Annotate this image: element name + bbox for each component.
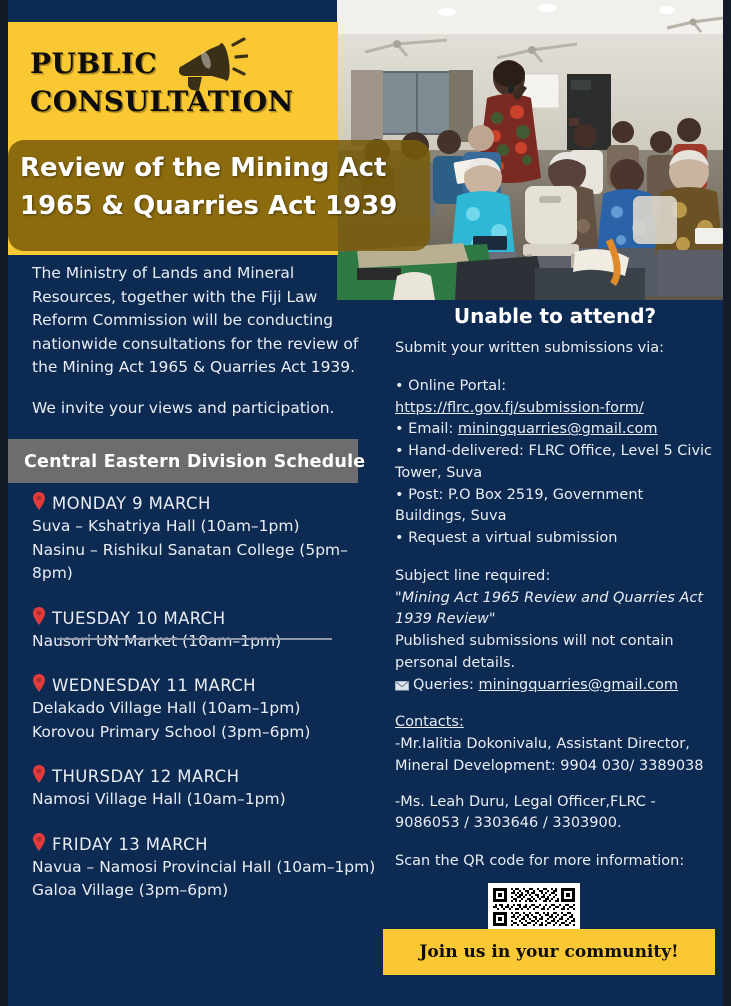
schedule-entry: MONDAY 9 MARCH Suva – Kshatriya Hall (10… — [32, 492, 382, 586]
schedule-day: FRIDAY 13 MARCH — [32, 833, 382, 854]
bullet-post: • Post: P.O Box 2519, Government Buildin… — [395, 485, 715, 529]
review-title: Review of the Mining Act 1965 & Quarries… — [20, 150, 440, 225]
schedule-venue: Nasinu – Rishikul Sanatan College (5pm–8… — [32, 539, 382, 586]
contacts-block: Contacts: -Mr.Ialitia Dokonivalu, Assist… — [395, 712, 715, 835]
join-cta-label[interactable]: Join us in your community! — [383, 929, 715, 975]
schedule-venue: Galoa Village (3pm–6pm) — [32, 879, 382, 903]
bullet-hand-delivered: • Hand-delivered: FLRC Office, Level 5 C… — [395, 441, 715, 485]
bullet-online-portal-link[interactable]: https://flrc.gov.fj/submission-form/ — [395, 398, 715, 420]
subject-line-quote: "Mining Act 1965 Review and Quarries Act… — [395, 588, 715, 632]
envelope-icon — [395, 681, 409, 691]
review-line-2: 1965 & Quarries Act 1939 — [20, 188, 440, 226]
queries-line: Queries: miningquarries@gmail.com — [395, 675, 715, 697]
schedule-entry: TUESDAY 10 MARCH Nausori UN Market (10am… — [32, 607, 382, 654]
schedule-venue: Namosi Village Hall (10am–1pm) — [32, 788, 382, 812]
submissions-lead: Submit your written submissions via: — [395, 338, 715, 360]
map-pin-icon — [32, 607, 46, 625]
contact-person-2: -Ms. Leah Duru, Legal Officer,FLRC - 908… — [395, 792, 715, 836]
map-pin-icon — [32, 833, 46, 851]
bullet-virtual-submission: • Request a virtual submission — [395, 528, 715, 550]
section-divider — [57, 638, 332, 640]
schedule-venue: Suva – Kshatriya Hall (10am–1pm) — [32, 515, 382, 539]
poster-left-edge — [0, 0, 8, 1006]
contacts-heading: Contacts: — [395, 712, 715, 734]
poster-canvas: PUBLIC CONSULTATION Review of the Mining… — [0, 0, 731, 1006]
schedule-day-label: MONDAY 9 MARCH — [52, 494, 211, 513]
scan-qr-text: Scan the QR code for more information: — [395, 851, 715, 873]
schedule-venue: Nausori UN Market (10am–1pm) — [32, 630, 382, 654]
schedule-day: THURSDAY 12 MARCH — [32, 765, 382, 786]
bullet-email-label: • Email: — [395, 421, 458, 437]
bullet-email: • Email: miningquarries@gmail.com — [395, 419, 715, 441]
schedule-day-label: TUESDAY 10 MARCH — [52, 609, 226, 628]
schedule-entry: WEDNESDAY 11 MARCH Delakado Village Hall… — [32, 674, 382, 744]
schedule-list: MONDAY 9 MARCH Suva – Kshatriya Hall (10… — [32, 492, 382, 924]
schedule-day-label: FRIDAY 13 MARCH — [52, 835, 208, 854]
schedule-day-label: THURSDAY 12 MARCH — [52, 767, 239, 786]
left-column: The Ministry of Lands and Mineral Resour… — [8, 262, 380, 437]
map-pin-icon — [32, 765, 46, 783]
contact-person-1: -Mr.Ialitia Dokonivalu, Assistant Direct… — [395, 734, 715, 778]
privacy-note: Published submissions will not contain p… — [395, 631, 715, 675]
review-line-1: Review of the Mining Act — [20, 150, 440, 188]
schedule-day: TUESDAY 10 MARCH — [32, 607, 382, 628]
schedule-venue: Navua – Namosi Provincial Hall (10am–1pm… — [32, 856, 382, 880]
schedule-day-label: WEDNESDAY 11 MARCH — [52, 676, 256, 695]
subject-line-block: Subject line required: "Mining Act 1965 … — [395, 566, 715, 697]
megaphone-icon — [176, 36, 248, 92]
schedule-day: MONDAY 9 MARCH — [32, 492, 382, 513]
schedule-heading: Central Eastern Division Schedule — [24, 452, 365, 472]
schedule-venue: Korovou Primary School (3pm–6pm) — [32, 721, 382, 745]
intro-paragraph: The Ministry of Lands and Mineral Resour… — [32, 262, 372, 380]
queries-label: Queries: — [413, 677, 478, 693]
map-pin-icon — [32, 492, 46, 510]
submission-methods-list: • Online Portal: https://flrc.gov.fj/sub… — [395, 376, 715, 550]
submission-form-url[interactable]: https://flrc.gov.fj/submission-form/ — [395, 400, 644, 416]
email-link[interactable]: miningquarries@gmail.com — [458, 421, 658, 437]
bullet-online-portal-label: • Online Portal: — [395, 376, 715, 398]
poster-right-edge — [723, 0, 731, 1006]
unable-to-attend-title: Unable to attend? — [395, 304, 715, 328]
schedule-venue: Delakado Village Hall (10am–1pm) — [32, 697, 382, 721]
invite-paragraph: We invite your views and participation. — [32, 397, 372, 421]
schedule-entry: THURSDAY 12 MARCH Namosi Village Hall (1… — [32, 765, 382, 812]
qr-code-icon[interactable] — [488, 883, 580, 931]
schedule-day: WEDNESDAY 11 MARCH — [32, 674, 382, 695]
schedule-entry: FRIDAY 13 MARCH Navua – Namosi Provincia… — [32, 833, 382, 903]
subject-line-label: Subject line required: — [395, 566, 715, 588]
queries-email-link[interactable]: miningquarries@gmail.com — [478, 677, 678, 693]
right-column: Unable to attend? Submit your written su… — [395, 300, 715, 931]
intro-text: The Ministry of Lands and Mineral Resour… — [32, 262, 372, 420]
map-pin-icon — [32, 674, 46, 692]
